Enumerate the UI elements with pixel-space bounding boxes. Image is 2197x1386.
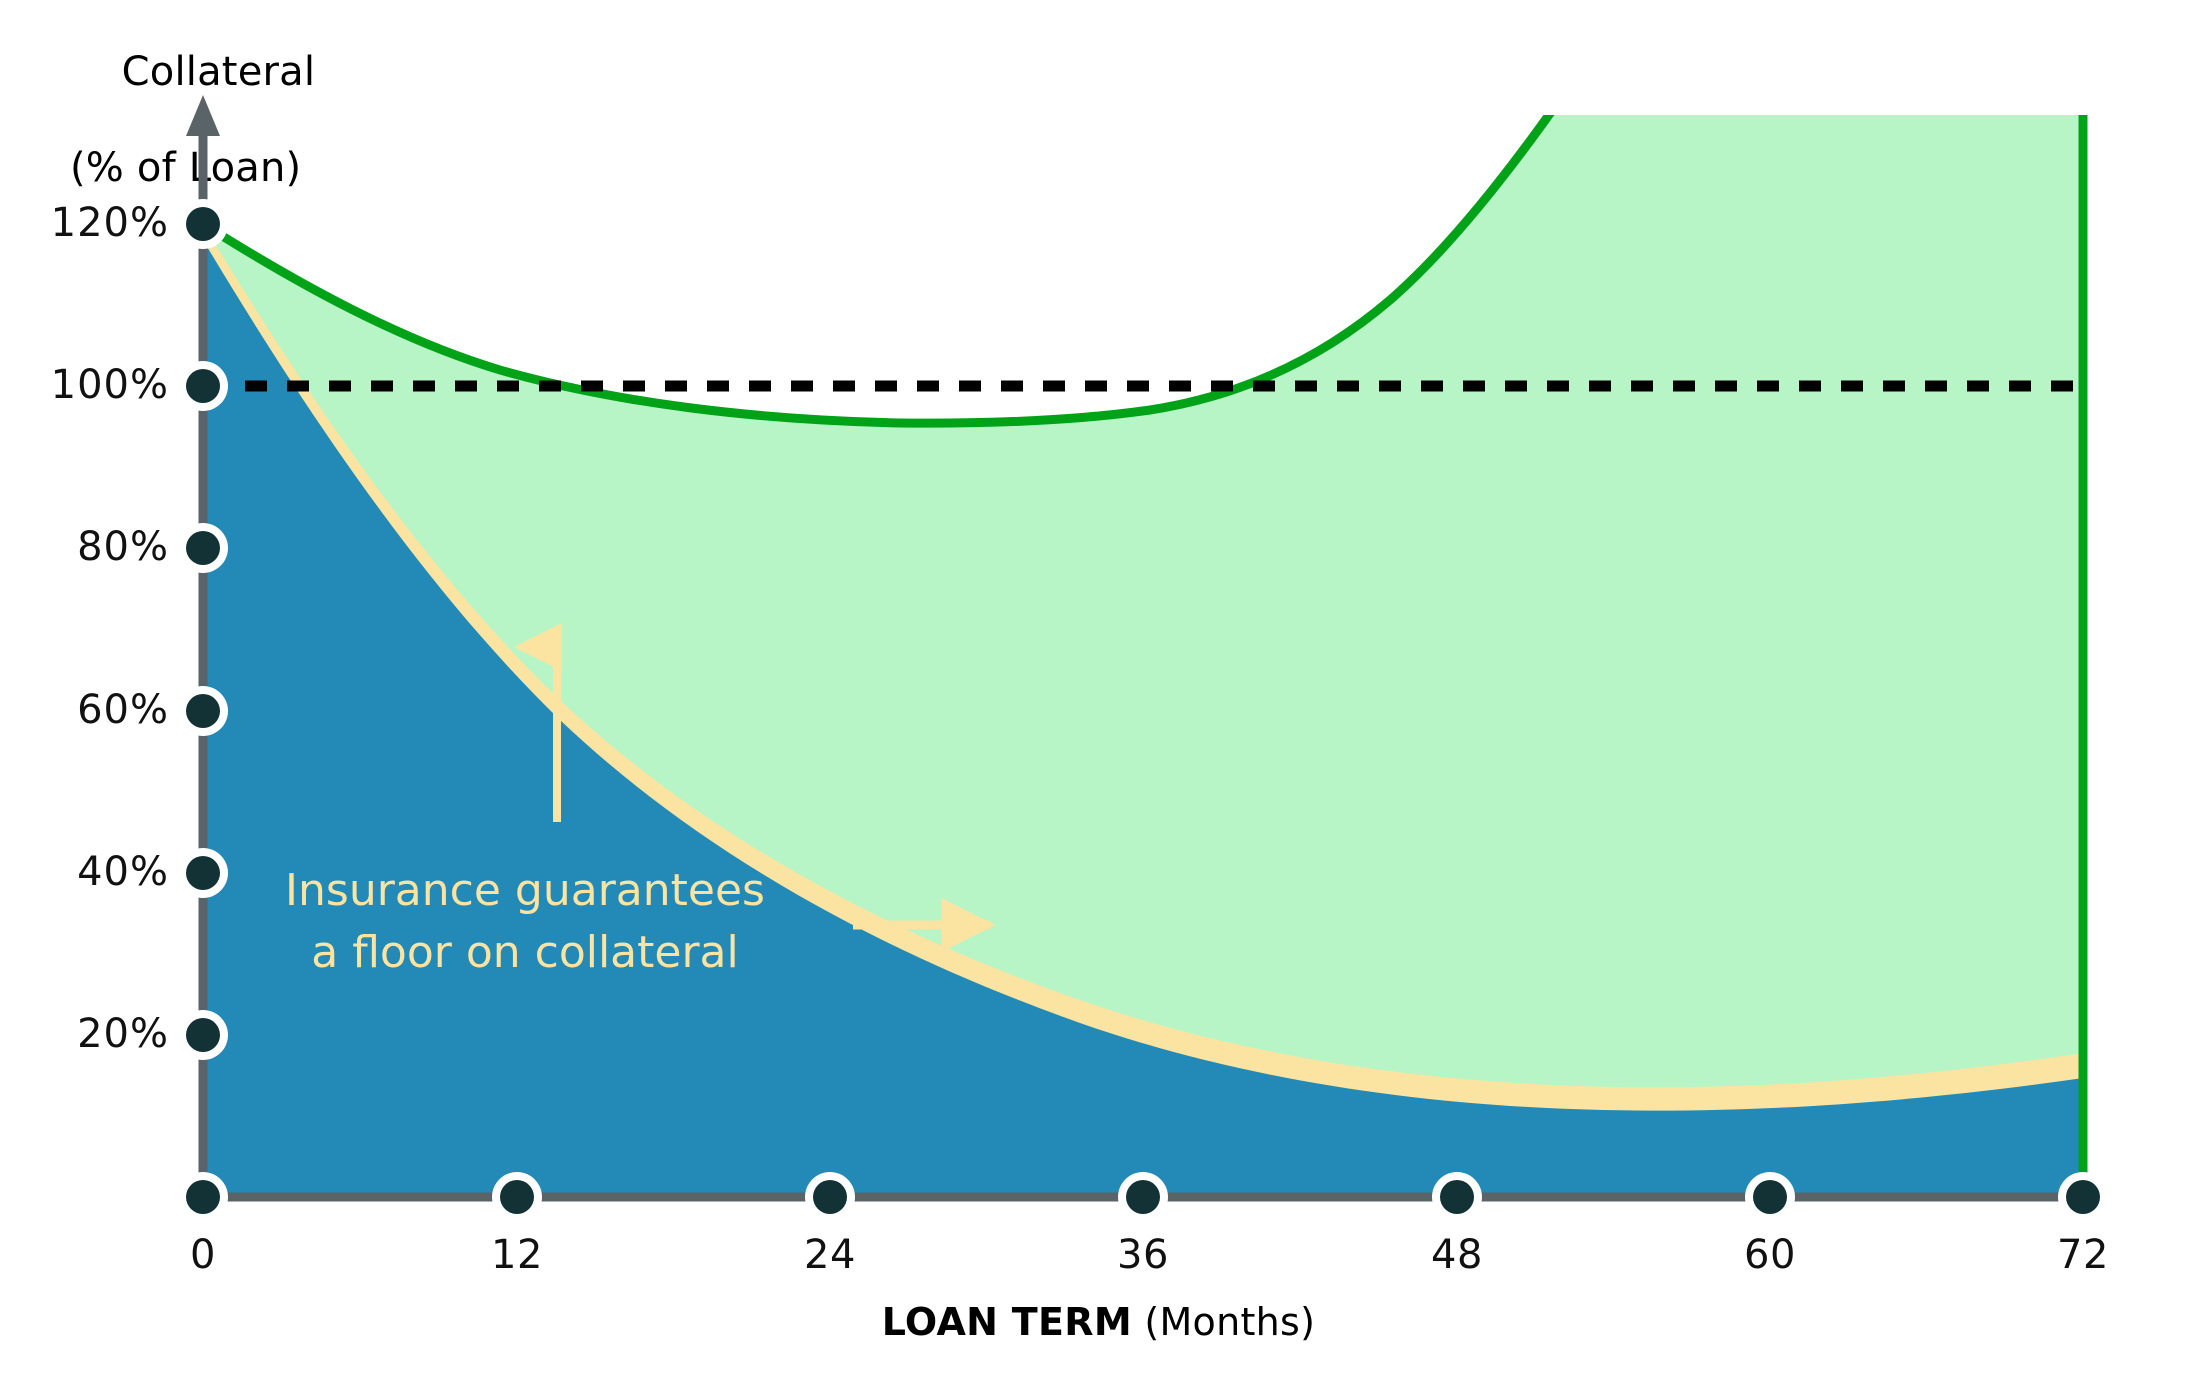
- y-tick-label-40: 40%: [77, 849, 169, 895]
- x-tick-label-72: 72: [2057, 1232, 2109, 1278]
- insurance-floor-annotation: Insurance guarantees a floor on collater…: [265, 860, 785, 984]
- y-tick-label-120: 120%: [51, 200, 169, 246]
- x-tick-label-36: 36: [1117, 1232, 1169, 1278]
- annotation-line-1: Insurance guarantees: [265, 860, 785, 922]
- x-tick-label-0: 0: [190, 1232, 216, 1278]
- x-tick-label-24: 24: [804, 1232, 856, 1278]
- x-tick-label-12: 12: [491, 1232, 543, 1278]
- y-axis-arrow-icon: [186, 95, 220, 136]
- x-axis-title: LOAN TERM (Months): [0, 1300, 2197, 1344]
- y-tick-label-100: 100%: [51, 362, 169, 408]
- x-tick-label-48: 48: [1431, 1232, 1483, 1278]
- chart-plot-area: [0, 0, 2197, 1386]
- chart-canvas: Collateral (% of Loan): [0, 0, 2197, 1386]
- annotation-line-2: a floor on collateral: [265, 922, 785, 984]
- x-tick-label-60: 60: [1744, 1232, 1796, 1278]
- y-tick-label-60: 60%: [77, 687, 169, 733]
- y-tick-label-20: 20%: [77, 1011, 169, 1057]
- y-tick-label-80: 80%: [77, 524, 169, 570]
